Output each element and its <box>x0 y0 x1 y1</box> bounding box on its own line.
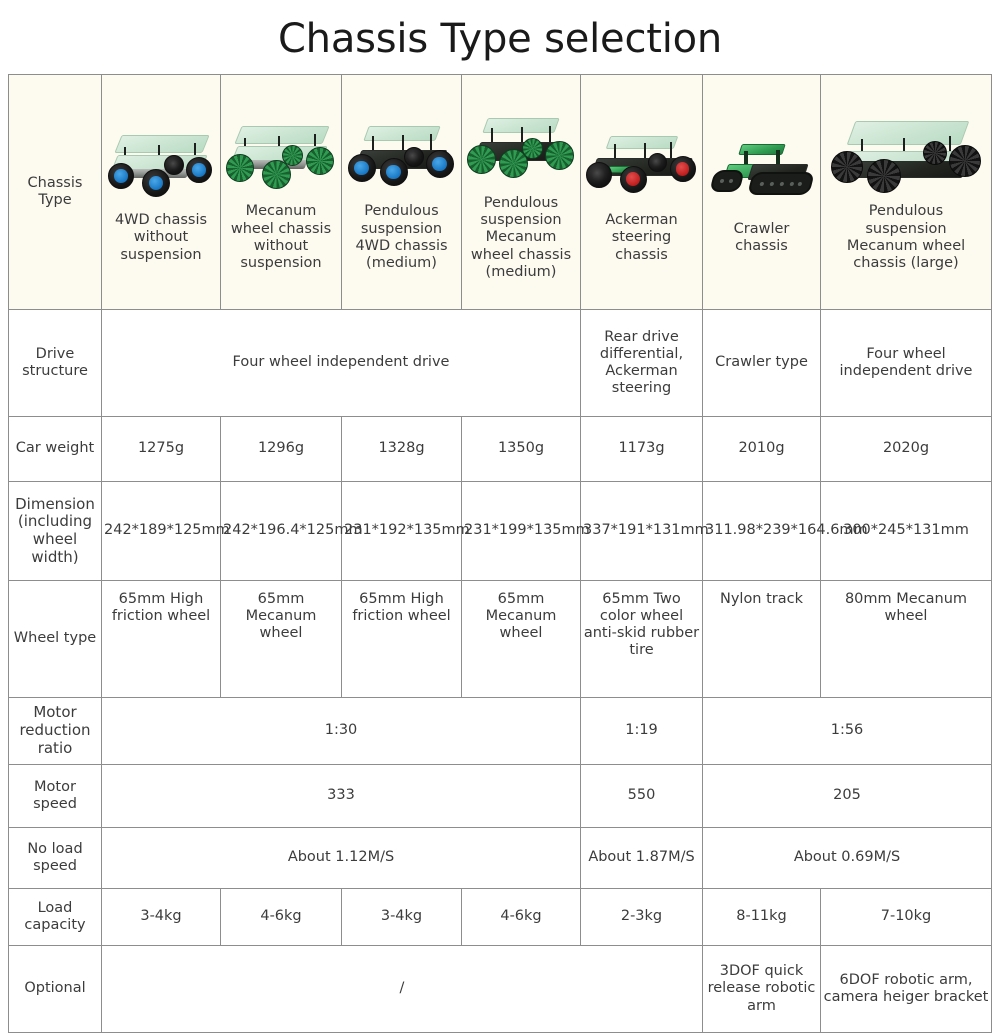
pendulous-4wd-medium-photo <box>347 113 456 197</box>
cell-motor-reduction-3: 1:56 <box>703 698 992 765</box>
cell-load-capacity-5: 2-3kg <box>581 889 703 946</box>
cell-wheel-type-6: Nylon track <box>703 581 821 698</box>
4wd-chassis-no-suspension-photo <box>107 122 215 206</box>
cell-load-capacity-4: 4-6kg <box>462 889 581 946</box>
chassis-column-4[interactable]: Pendulous suspension Mecanum wheel chass… <box>462 75 581 310</box>
row-header-motor-speed: Motor speed <box>9 765 102 828</box>
cell-motor-speed-1: 333 <box>102 765 581 828</box>
chassis-label-3: Pendulous suspension 4WD chassis (medium… <box>347 203 456 273</box>
cell-car-weight-4: 1350g <box>462 417 581 482</box>
chassis-column-5[interactable]: Ackerman steering chassis <box>581 75 703 310</box>
cell-car-weight-3: 1328g <box>342 417 462 482</box>
cell-load-capacity-6: 8-11kg <box>703 889 821 946</box>
table-row-optional: Optional / 3DOF quick release robotic ar… <box>9 946 992 1033</box>
table-row-car-weight: Car weight 1275g 1296g 1328g 1350g 1173g… <box>9 417 992 482</box>
cell-load-capacity-3: 3-4kg <box>342 889 462 946</box>
table-header-row: ChassisType <box>9 75 992 310</box>
cell-car-weight-7: 2020g <box>821 417 992 482</box>
table-row-drive-structure: Drive structure Four wheel independent d… <box>9 310 992 417</box>
cell-dimension-3: 231*192*135mm <box>342 482 462 581</box>
cell-no-load-speed-3: About 0.69M/S <box>703 828 992 889</box>
chassis-spec-table: ChassisType <box>8 74 992 1033</box>
row-header-dimension-text: Dimension (including wheel width) <box>15 495 95 566</box>
cell-wheel-type-7: 80mm Mecanum wheel <box>821 581 992 698</box>
cell-no-load-speed-2: About 1.87M/S <box>581 828 703 889</box>
table-row-wheel-type: Wheel type 65mm High friction wheel 65mm… <box>9 581 992 698</box>
row-header-dimension: Dimension (including wheel width) <box>9 482 102 581</box>
chassis-label-1: 4WD chassis without suspension <box>107 212 215 264</box>
row-header-drive-structure: Drive structure <box>9 310 102 417</box>
chassis-column-7[interactable]: Pendulous suspension Mecanum wheel chass… <box>821 75 992 310</box>
cell-drive-structure-4: Four wheel independent drive <box>821 310 992 417</box>
cell-dimension-7: 300*245*131mm <box>821 482 992 581</box>
cell-load-capacity-7: 7-10kg <box>821 889 992 946</box>
chassis-label-7: Pendulous suspension Mecanum wheel chass… <box>826 203 986 273</box>
cell-car-weight-5: 1173g <box>581 417 703 482</box>
chassis-comparison-page: Chassis Type selection ChassisType <box>0 0 1000 1000</box>
cell-car-weight-1: 1275g <box>102 417 221 482</box>
cell-drive-structure-3: Crawler type <box>703 310 821 417</box>
chassis-column-1[interactable]: 4WD chassis without suspension <box>102 75 221 310</box>
corner-chassis-type: ChassisType <box>9 75 102 310</box>
cell-no-load-speed-1: About 1.12M/S <box>102 828 581 889</box>
corner-line-2: Type <box>38 192 71 208</box>
mecanum-chassis-no-suspension-photo <box>226 113 336 197</box>
cell-motor-speed-3: 205 <box>703 765 992 828</box>
corner-line-1: Chassis <box>28 175 83 191</box>
cell-motor-reduction-2: 1:19 <box>581 698 703 765</box>
table-row-no-load-speed: No load speed About 1.12M/S About 1.87M/… <box>9 828 992 889</box>
cell-optional-1: / <box>102 946 703 1033</box>
cell-load-capacity-1: 3-4kg <box>102 889 221 946</box>
cell-dimension-2: 242*196.4*125mm <box>221 482 342 581</box>
cell-load-capacity-2: 4-6kg <box>221 889 342 946</box>
table-row-load-capacity: Load capacity 3-4kg 4-6kg 3-4kg 4-6kg 2-… <box>9 889 992 946</box>
chassis-label-6: Crawler chassis <box>708 221 815 256</box>
table-row-motor-reduction-ratio: Motor reduction ratio 1:30 1:19 1:56 <box>9 698 992 765</box>
page-title: Chassis Type selection <box>0 0 1000 74</box>
cell-wheel-type-5: 65mm Two color wheel anti-skid rubber ti… <box>581 581 703 698</box>
cell-dimension-1: 242*189*125mm <box>102 482 221 581</box>
cell-dimension-6: 311.98*239*164.6mm <box>703 482 821 581</box>
cell-dimension-5: 337*191*131mm <box>581 482 703 581</box>
cell-wheel-type-2: 65mm Mecanum wheel <box>221 581 342 698</box>
row-header-car-weight: Car weight <box>9 417 102 482</box>
row-header-wheel-type: Wheel type <box>9 581 102 698</box>
pendulous-mecanum-large-photo <box>826 113 986 197</box>
cell-dimension-4: 231*199*135mm <box>462 482 581 581</box>
row-header-load-capacity: Load capacity <box>9 889 102 946</box>
chassis-column-6[interactable]: Crawler chassis <box>703 75 821 310</box>
chassis-column-2[interactable]: Mecanum wheel chassis without suspension <box>221 75 342 310</box>
cell-drive-structure-1: Four wheel independent drive <box>102 310 581 417</box>
row-header-optional: Optional <box>9 946 102 1033</box>
cell-car-weight-2: 1296g <box>221 417 342 482</box>
cell-wheel-type-4: 65mm Mecanum wheel <box>462 581 581 698</box>
chassis-label-5: Ackerman steering chassis <box>586 212 697 264</box>
cell-drive-structure-2: Rear drive differential, Ackerman steeri… <box>581 310 703 417</box>
row-header-no-load-speed: No load speed <box>9 828 102 889</box>
ackerman-steering-photo <box>586 122 697 206</box>
chassis-column-3[interactable]: Pendulous suspension 4WD chassis (medium… <box>342 75 462 310</box>
cell-wheel-type-3: 65mm High friction wheel <box>342 581 462 698</box>
cell-optional-2: 3DOF quick release robotic arm <box>703 946 821 1033</box>
chassis-label-4: Pendulous suspension Mecanum wheel chass… <box>467 195 575 282</box>
crawler-chassis-photo <box>708 131 815 215</box>
pendulous-mecanum-medium-photo <box>467 105 575 189</box>
cell-wheel-type-1: 65mm High friction wheel <box>102 581 221 698</box>
chassis-label-2: Mecanum wheel chassis without suspension <box>226 203 336 273</box>
table-row-dimension: Dimension (including wheel width) 242*18… <box>9 482 992 581</box>
row-header-motor-reduction-ratio: Motor reduction ratio <box>9 698 102 765</box>
cell-motor-speed-2: 550 <box>581 765 703 828</box>
cell-car-weight-6: 2010g <box>703 417 821 482</box>
cell-motor-reduction-1: 1:30 <box>102 698 581 765</box>
cell-optional-3: 6DOF robotic arm, camera heiger bracket <box>821 946 992 1033</box>
table-row-motor-speed: Motor speed 333 550 205 <box>9 765 992 828</box>
